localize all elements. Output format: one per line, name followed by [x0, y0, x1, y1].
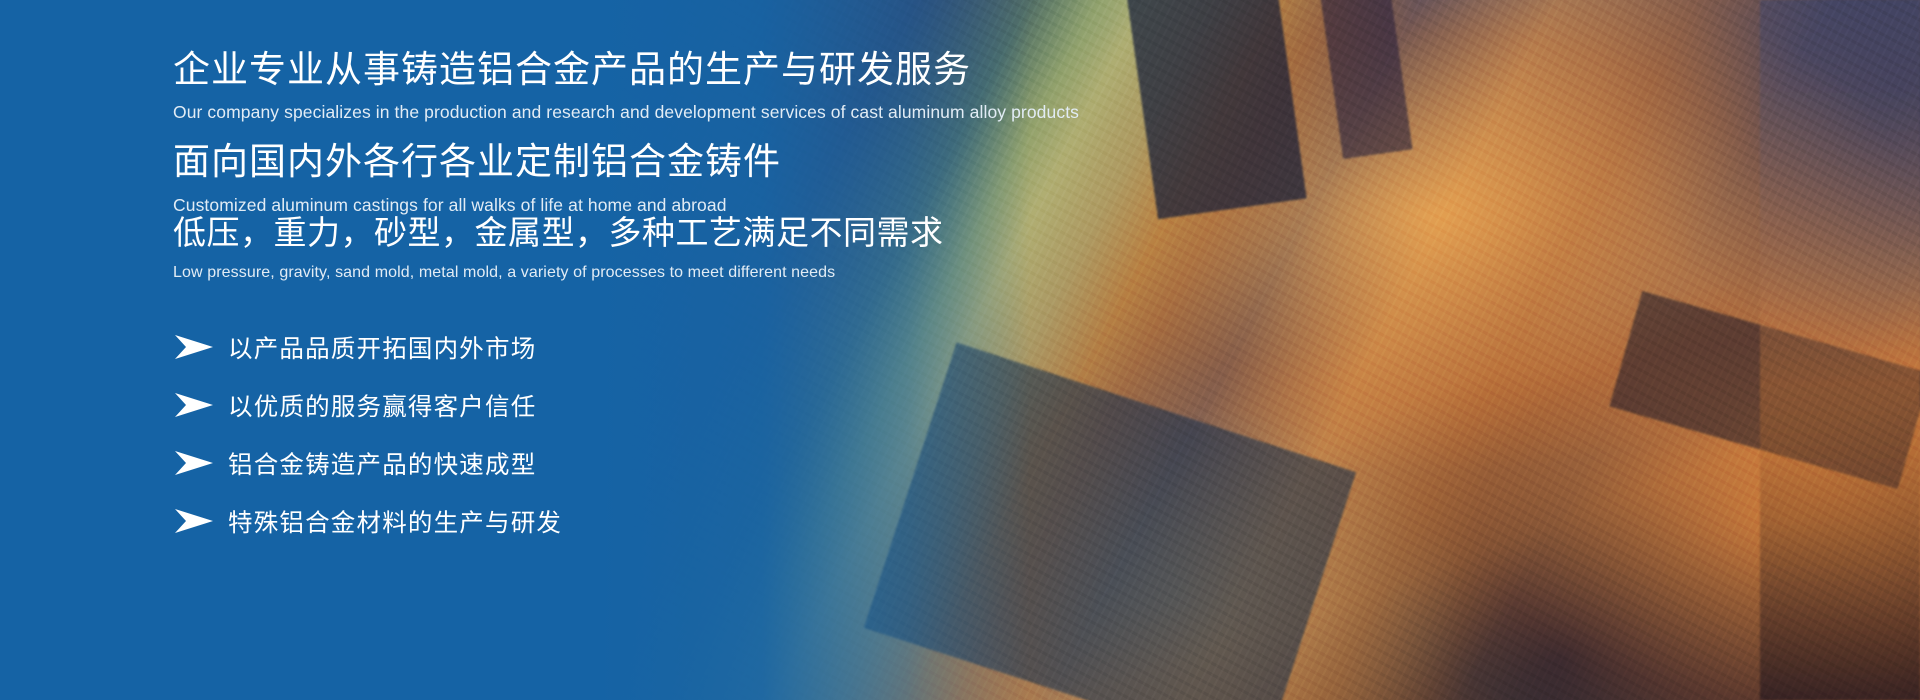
arrow-right-icon [173, 332, 215, 362]
arrow-right-icon [173, 506, 215, 536]
hero-banner: 企业专业从事铸造铝合金产品的生产与研发服务 Our company specia… [0, 0, 1920, 700]
list-item: 以优质的服务赢得客户信任 [173, 376, 873, 434]
list-item-label: 以产品品质开拓国内外市场 [228, 330, 536, 365]
headline-cn-3: 低压，重力，砂型，金属型，多种工艺满足不同需求 [173, 215, 944, 252]
machinery-silhouette [1609, 291, 1920, 489]
headline-en-3: Low pressure, gravity, sand mold, metal … [173, 264, 944, 282]
headline-cn-1: 企业专业从事铸造铝合金产品的生产与研发服务 [173, 49, 1079, 90]
headline-block-3: 低压，重力，砂型，金属型，多种工艺满足不同需求 Low pressure, gr… [173, 215, 944, 282]
machinery-silhouette [1317, 0, 1412, 159]
headline-en-1: Our company specializes in the productio… [173, 102, 1079, 123]
arrow-right-icon [173, 390, 215, 420]
list-item: 特殊铝合金材料的生产与研发 [173, 492, 873, 550]
arrow-right-icon [173, 448, 215, 478]
list-item-label: 以优质的服务赢得客户信任 [228, 388, 536, 423]
list-item: 以产品品质开拓国内外市场 [173, 318, 873, 376]
feature-bullet-list: 以产品品质开拓国内外市场 以优质的服务赢得客户信任 铝合金铸造产品的快速成型 特… [173, 318, 873, 550]
banner-content: 企业专业从事铸造铝合金产品的生产与研发服务 Our company specia… [173, 0, 1273, 700]
list-item: 铝合金铸造产品的快速成型 [173, 434, 873, 492]
list-item-label: 特殊铝合金材料的生产与研发 [228, 504, 562, 539]
headline-block-2: 面向国内外各行各业定制铝合金铸件 Customized aluminum cas… [173, 141, 781, 216]
machinery-silhouette [1760, 0, 1920, 700]
headline-block-1: 企业专业从事铸造铝合金产品的生产与研发服务 Our company specia… [173, 49, 1079, 123]
list-item-label: 铝合金铸造产品的快速成型 [228, 446, 536, 481]
headline-cn-2: 面向国内外各行各业定制铝合金铸件 [173, 141, 781, 182]
